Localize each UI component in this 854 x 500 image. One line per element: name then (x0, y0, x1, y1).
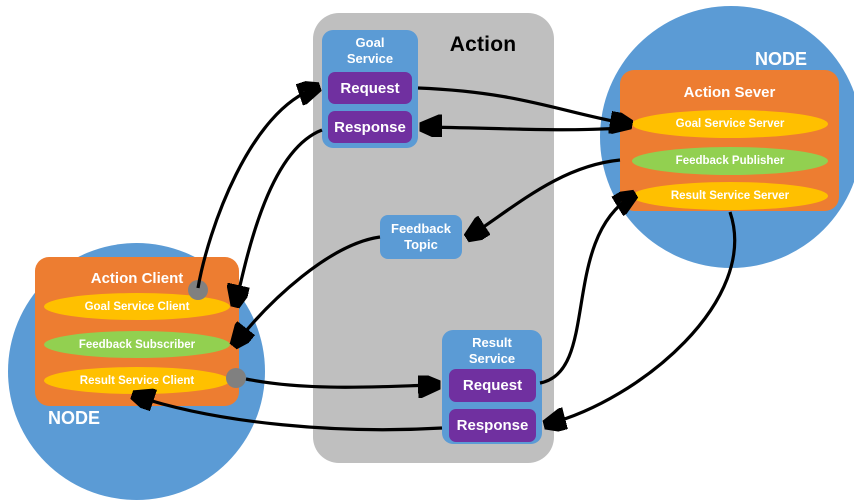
result-client-connector-dot (226, 368, 246, 388)
client-node-label: NODE (48, 408, 100, 429)
goal-service-title: Goal Service (322, 35, 418, 67)
result-response-box[interactable]: Response (449, 409, 536, 442)
result-service-title-line1: Result (472, 335, 512, 350)
goal-service-title-line2: Service (347, 51, 393, 66)
feedback-publisher-ellipse[interactable]: Feedback Publisher (632, 147, 828, 175)
server-node-label: NODE (755, 49, 807, 70)
goal-service-server-ellipse[interactable]: Goal Service Server (632, 110, 828, 138)
goal-response-box[interactable]: Response (328, 111, 412, 143)
diagram-canvas: Action NODE Action Sever Goal Service Se… (0, 0, 854, 480)
result-request-box[interactable]: Request (449, 369, 536, 402)
goal-client-connector-dot (188, 280, 208, 300)
feedback-topic-text: Feedback Topic (391, 221, 451, 253)
feedback-topic-line1: Feedback (391, 221, 451, 236)
feedback-topic-box[interactable]: Feedback Topic (380, 215, 462, 259)
action-server-title: Action Sever (620, 84, 839, 101)
feedback-topic-line2: Topic (404, 237, 438, 252)
result-service-title: Result Service (442, 335, 542, 367)
result-service-title-line2: Service (469, 351, 515, 366)
action-client-title: Action Client (35, 270, 239, 287)
result-service-server-ellipse[interactable]: Result Service Server (632, 182, 828, 210)
action-panel-label: Action (413, 33, 553, 57)
arrow-goal-response-out (236, 130, 322, 303)
result-service-client-ellipse[interactable]: Result Service Client (44, 367, 230, 394)
goal-service-title-line1: Goal (356, 35, 385, 50)
goal-request-box[interactable]: Request (328, 72, 412, 104)
feedback-subscriber-ellipse[interactable]: Feedback Subscriber (44, 331, 230, 358)
